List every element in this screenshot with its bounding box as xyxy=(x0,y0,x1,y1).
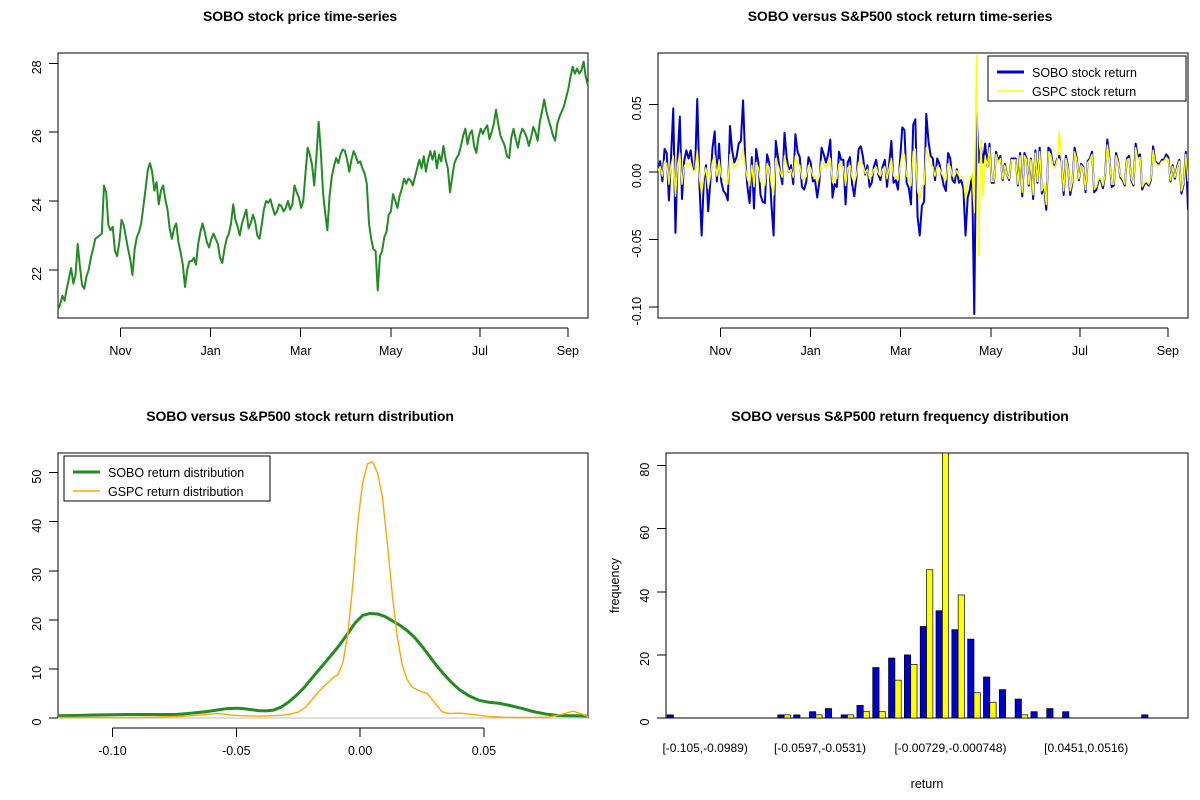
x-tick-label: [-0.105,-0.0989) xyxy=(662,741,747,755)
sobo-return-line xyxy=(658,99,1188,314)
y-tick-label: 24 xyxy=(30,198,44,212)
y-axis: 01020304050 xyxy=(30,470,58,726)
x-tick-label: May xyxy=(379,344,403,358)
x-tick-label: [-0.00729,-0.000748) xyxy=(894,741,1006,755)
return-chart: -0.10-0.050.000.05NovJanMarMayJulSepSOBO… xyxy=(600,0,1200,400)
x-tick-label: Jan xyxy=(201,344,221,358)
y-tick-label: 80 xyxy=(638,463,652,477)
x-axis-labels: [-0.105,-0.0989)[-0.0597,-0.0531)[-0.007… xyxy=(662,741,1128,755)
y-tick-label: 26 xyxy=(30,129,44,143)
histogram-bars xyxy=(667,453,1148,718)
histogram-bar xyxy=(1047,709,1053,718)
y-tick-label: 20 xyxy=(30,617,44,631)
x-tick-label: Jan xyxy=(801,344,821,358)
x-tick-label: [-0.0597,-0.0531) xyxy=(774,741,866,755)
histogram-bar xyxy=(841,715,847,718)
panel-return: SOBO versus S&P500 stock return time-ser… xyxy=(600,0,1200,400)
y-axis: 020406080 xyxy=(638,463,666,726)
y-tick-label: 40 xyxy=(30,519,44,533)
y-axis: 22242628 xyxy=(30,60,58,280)
legend: SOBO return distributionGSPC return dist… xyxy=(64,456,270,501)
histogram-bar xyxy=(816,715,822,718)
legend-label: GSPC return distribution xyxy=(108,485,244,499)
histogram-bar xyxy=(974,693,980,718)
x-tick-label: Mar xyxy=(890,344,912,358)
panel-density: SOBO versus S&P500 stock return distribu… xyxy=(0,400,600,800)
histogram-bar xyxy=(667,715,673,718)
histogram-chart: 020406080[-0.105,-0.0989)[-0.0597,-0.053… xyxy=(600,400,1200,800)
histogram-bar xyxy=(936,611,942,718)
y-tick-label: -0.05 xyxy=(630,229,644,258)
histogram-bar xyxy=(904,655,910,718)
histogram-bar xyxy=(952,630,958,718)
histogram-bar xyxy=(920,627,926,718)
histogram-bar xyxy=(1142,715,1148,718)
histogram-bar xyxy=(942,453,948,718)
y-tick-label: 0 xyxy=(30,718,44,725)
histogram-bar xyxy=(1063,712,1069,718)
histogram-bar xyxy=(1031,712,1037,718)
histogram-bar xyxy=(863,712,869,718)
y-tick-label: 10 xyxy=(30,666,44,680)
histogram-bar xyxy=(1015,699,1021,718)
y-tick-label: 0 xyxy=(638,718,652,725)
x-tick-label: Jul xyxy=(472,344,488,358)
y-tick-label: 0.05 xyxy=(630,96,644,120)
histogram-bar xyxy=(990,702,996,718)
x-tick-label: Sep xyxy=(557,344,579,358)
panel-price: SOBO stock price time-series 22242628Nov… xyxy=(0,0,600,400)
histogram-bar xyxy=(784,715,790,718)
histogram-bar xyxy=(847,715,853,718)
y-tick-label: 20 xyxy=(638,652,652,666)
legend-label: SOBO return distribution xyxy=(108,466,244,480)
histogram-bar xyxy=(958,595,964,718)
histogram-bar xyxy=(857,705,863,718)
y-axis: -0.10-0.050.000.05 xyxy=(630,96,658,325)
y-tick-label: 60 xyxy=(638,526,652,540)
histogram-bar xyxy=(968,639,974,718)
histogram-bar xyxy=(879,712,885,718)
x-tick-label: Sep xyxy=(1157,344,1179,358)
y-tick-label: 50 xyxy=(30,470,44,484)
y-tick-label: -0.10 xyxy=(630,297,644,326)
histogram-bar xyxy=(794,715,800,718)
x-axis: NovJanMarMayJulSep xyxy=(709,328,1179,358)
x-tick-label: Nov xyxy=(709,344,732,358)
histogram-bar xyxy=(778,715,784,718)
x-axis: NovJanMarMayJulSep xyxy=(109,328,579,358)
plot-grid: SOBO stock price time-series 22242628Nov… xyxy=(0,0,1200,800)
y-axis-title: frequency xyxy=(608,557,622,613)
y-tick-label: 40 xyxy=(638,589,652,603)
y-tick-label: 22 xyxy=(30,267,44,281)
histogram-bar xyxy=(999,690,1005,718)
x-tick-label: -0.10 xyxy=(98,744,127,758)
price-chart: 22242628NovJanMarMayJulSep xyxy=(0,0,600,400)
price-line xyxy=(58,62,588,310)
y-tick-label: 30 xyxy=(30,568,44,582)
histogram-bar xyxy=(889,658,895,718)
x-tick-label: Nov xyxy=(109,344,132,358)
y-tick-label: 0.00 xyxy=(630,164,644,188)
x-tick-label: Jul xyxy=(1072,344,1088,358)
histogram-bar xyxy=(809,712,815,718)
x-tick-label: Mar xyxy=(290,344,312,358)
sobo-density-line xyxy=(58,613,588,716)
legend-label: SOBO stock return xyxy=(1032,66,1137,80)
x-axis-title: return xyxy=(911,777,944,791)
x-axis: -0.10-0.050.000.05 xyxy=(98,728,496,758)
legend: SOBO stock returnGSPC stock return xyxy=(988,56,1186,101)
histogram-bar xyxy=(873,668,879,718)
y-tick-label: 28 xyxy=(30,60,44,74)
x-tick-label: 0.05 xyxy=(472,744,496,758)
histogram-bar xyxy=(1021,715,1027,718)
histogram-bar xyxy=(983,677,989,718)
x-tick-label: May xyxy=(979,344,1003,358)
histogram-bar xyxy=(825,709,831,718)
histogram-bar xyxy=(911,664,917,718)
density-chart: 01020304050-0.10-0.050.000.05SOBO return… xyxy=(0,400,600,800)
x-tick-label: 0.00 xyxy=(348,744,372,758)
x-tick-label: [0.0451,0.0516) xyxy=(1044,741,1128,755)
legend-label: GSPC stock return xyxy=(1032,85,1136,99)
histogram-bar xyxy=(895,680,901,718)
histogram-bar xyxy=(927,570,933,718)
x-tick-label: -0.05 xyxy=(222,744,251,758)
panel-histogram: SOBO versus S&P500 return frequency dist… xyxy=(600,400,1200,800)
